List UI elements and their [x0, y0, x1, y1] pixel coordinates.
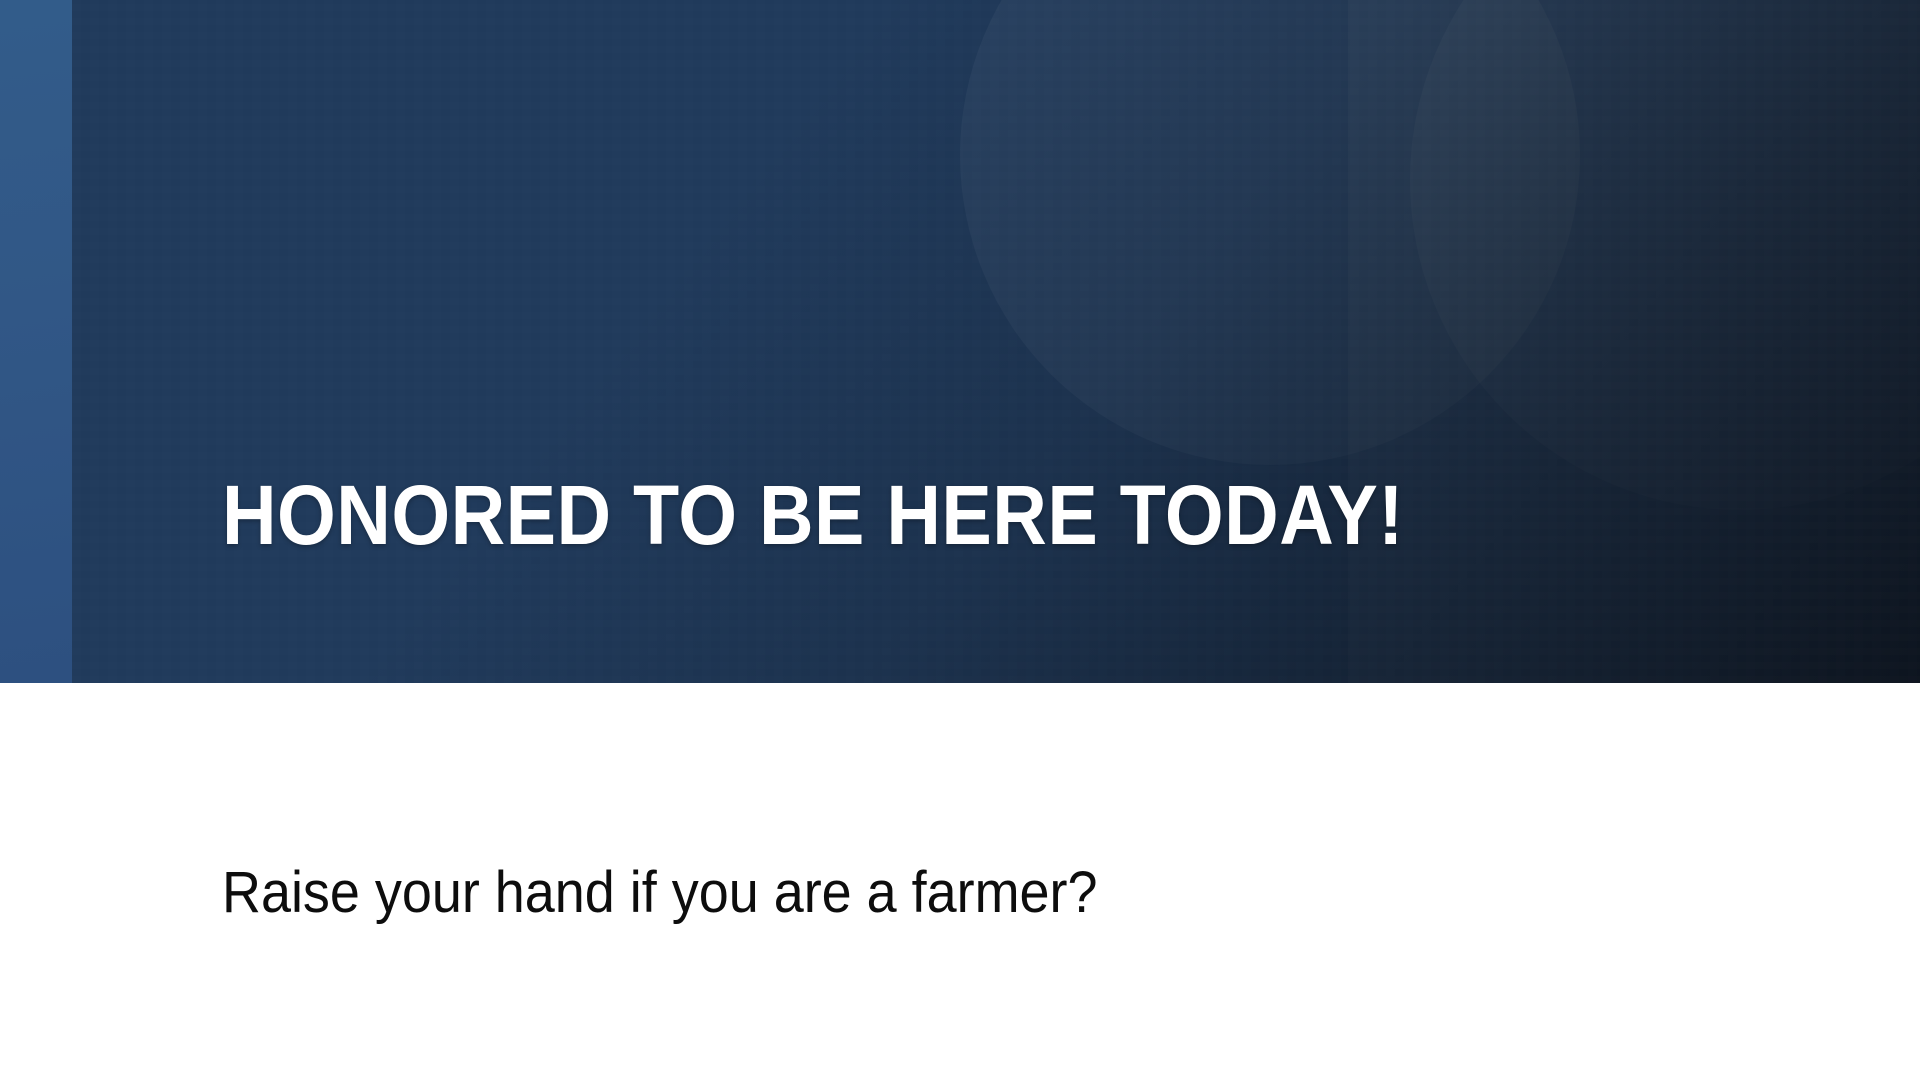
slide-canvas: HONORED TO BE HERE TODAY! Raise your han… [0, 0, 1920, 1080]
left-accent-strip [0, 0, 72, 683]
slide-body-text: Raise your hand if you are a farmer? [222, 858, 1097, 928]
slide-banner: HONORED TO BE HERE TODAY! [0, 0, 1920, 683]
slide-body-area: Raise your hand if you are a farmer? [0, 683, 1920, 1080]
slide-title: HONORED TO BE HERE TODAY! [222, 471, 1404, 559]
